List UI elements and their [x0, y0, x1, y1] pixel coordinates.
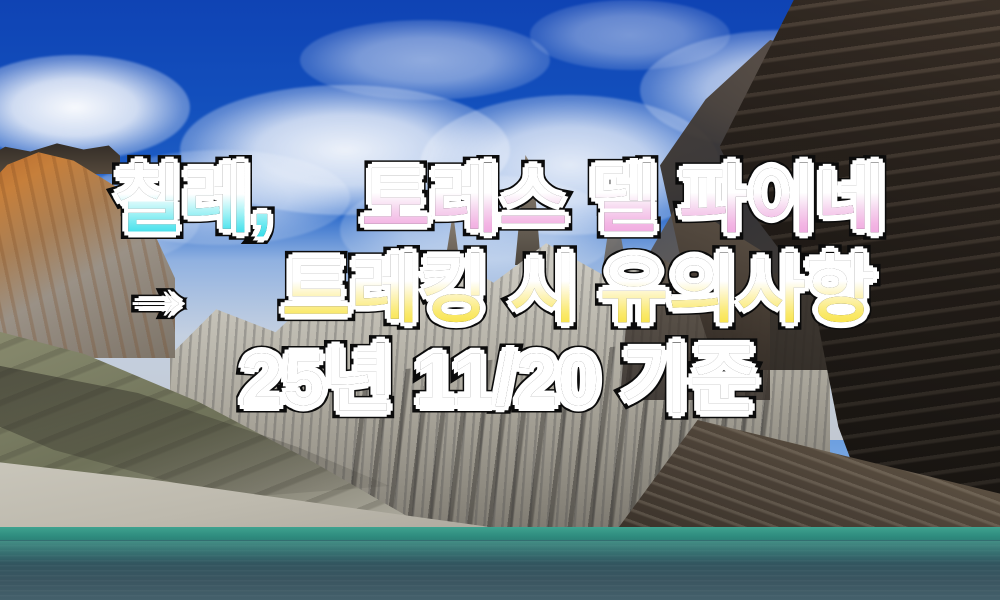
title-segment-place: 토레스 델 파이네 토레스 델 파이네: [362, 163, 886, 237]
title-line-2: → → 트레킹 시 유의사항 트레킹 시 유의사항: [0, 253, 1000, 327]
title-line-3: 25년 11/20 기준 25년 11/20 기준: [0, 343, 1000, 417]
lake-sheen: [0, 541, 1000, 563]
title-segment-date: 25년 11/20 기준 25년 11/20 기준: [241, 343, 759, 417]
thumbnail-canvas: 칠레, 칠레, 토레스 델 파이네 토레스 델 파이네 → → 트레킹 시 유의…: [0, 0, 1000, 600]
title-segment-notice-stroke: 트레킹 시 유의사항: [282, 248, 875, 331]
right-arrow-icon-stroke: →: [125, 254, 194, 330]
title-segment-country: 칠레, 칠레,: [114, 163, 273, 237]
thumbnail-title-block: 칠레, 칠레, 토레스 델 파이네 토레스 델 파이네 → → 트레킹 시 유의…: [0, 163, 1000, 417]
title-line-1: 칠레, 칠레, 토레스 델 파이네 토레스 델 파이네: [0, 163, 1000, 237]
right-arrow-icon: → →: [125, 258, 194, 326]
cloud-icon: [530, 0, 730, 70]
title-segment-notice: 트레킹 시 유의사항 트레킹 시 유의사항: [282, 253, 875, 327]
cloud-icon: [300, 20, 550, 100]
title-segment-country-stroke: 칠레,: [114, 158, 273, 241]
title-segment-date-stroke: 25년 11/20 기준: [241, 338, 759, 421]
title-segment-place-stroke: 토레스 델 파이네: [362, 158, 886, 241]
